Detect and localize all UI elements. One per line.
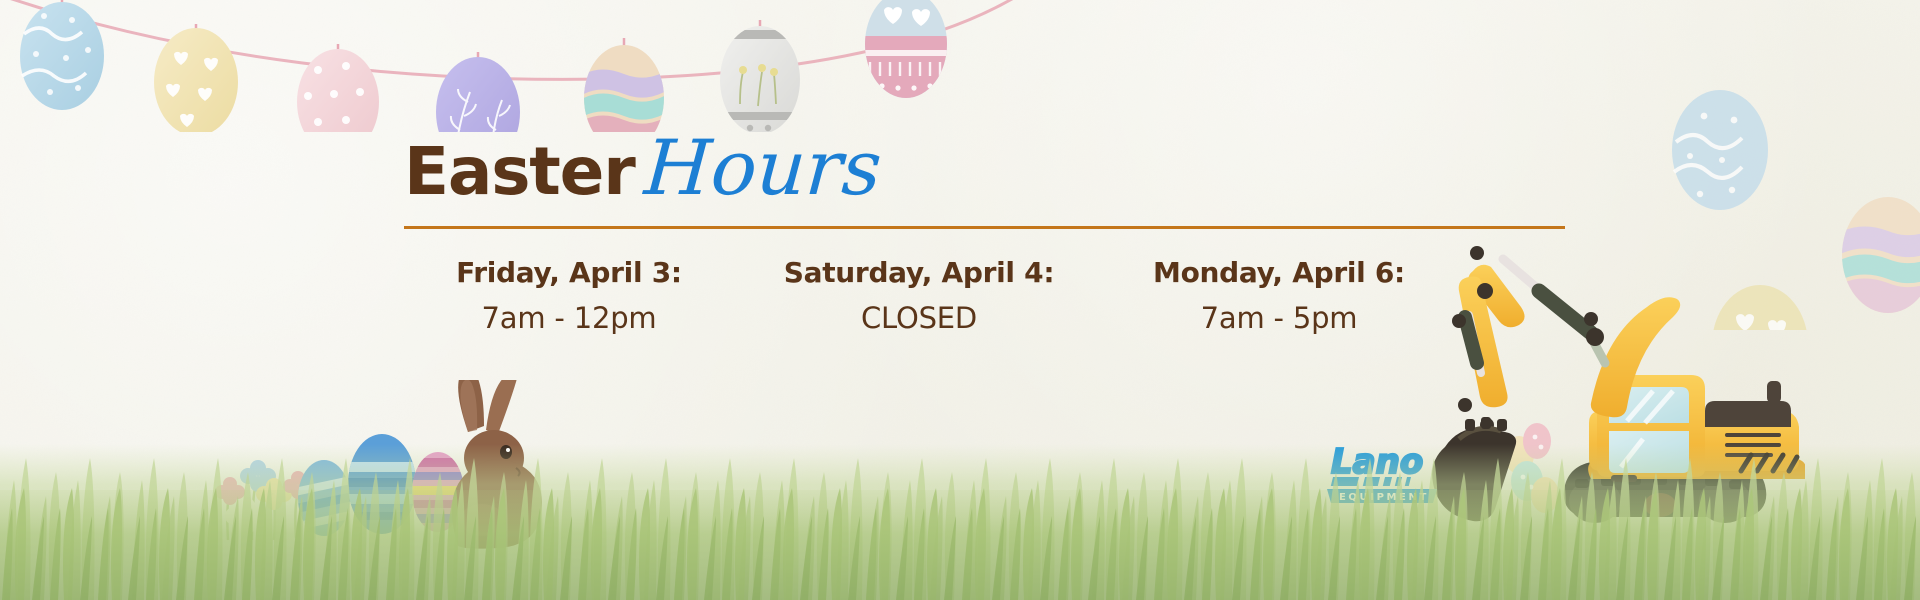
lano-equipment-logo[interactable]: Lano EQUIPMENT <box>1325 437 1445 505</box>
garland-egg-purple-vine <box>436 52 520 132</box>
grass-illustration <box>0 370 1920 600</box>
excavator-cab <box>1597 375 1705 482</box>
bunny-body <box>452 459 542 548</box>
flower-pink <box>215 477 245 505</box>
logo-subtitle-text: EQUIPMENT <box>1339 492 1429 503</box>
hours-time-value: 7am - 12pm <box>404 303 734 335</box>
spring-flowers <box>215 460 313 540</box>
cab-step <box>1611 475 1637 482</box>
ground-egg-blue-stripe-large <box>342 434 422 534</box>
cab-window-upper <box>1609 387 1689 423</box>
hours-column-monday: Monday, April 6: 7am - 5pm <box>1104 258 1454 335</box>
bunny-eye <box>500 445 512 459</box>
hours-day-label: Friday, April 3: <box>404 258 734 289</box>
bunny-ear-right <box>486 380 517 434</box>
bunny-illustration <box>452 380 542 549</box>
flower-pink-small <box>283 471 313 499</box>
easter-hours-banner: Easter Hours Friday, April 3: 7am - 12pm… <box>0 0 1920 600</box>
cab-window-lower <box>1609 431 1689 473</box>
garland-egg-rose-hearts <box>860 0 952 98</box>
flower-yellow <box>256 478 292 510</box>
hours-day-label: Monday, April 6: <box>1104 258 1454 289</box>
logo-speed-bars <box>1331 477 1411 486</box>
title-line: Easter Hours <box>404 130 1569 214</box>
logo-brand-text: Lano <box>1331 442 1423 482</box>
flower-white <box>225 497 267 535</box>
bunny-head <box>464 430 524 486</box>
garland-egg-pink-dots <box>297 44 379 132</box>
garland-string <box>0 0 1020 79</box>
ground-egg-blue-stripe-small <box>291 460 358 536</box>
garland-egg-pastel-wave <box>580 38 668 132</box>
hours-column-friday: Friday, April 3: 7am - 12pm <box>404 258 734 335</box>
floating-egg-blue-dots <box>1672 90 1768 210</box>
hours-day-label: Saturday, April 4: <box>734 258 1104 289</box>
garland-egg-gray-floral <box>716 20 804 132</box>
title-block: Easter Hours <box>404 130 1569 229</box>
flower-blue <box>240 460 276 492</box>
garland-egg-blue-swirl <box>20 0 104 110</box>
hours-row: Friday, April 3: 7am - 12pm Saturday, Ap… <box>404 258 1454 335</box>
floating-egg-cream-hearts <box>1712 285 1808 330</box>
hours-time-value: 7am - 5pm <box>1104 303 1454 335</box>
page-title-primary: Easter <box>404 139 635 205</box>
hours-column-saturday: Saturday, April 4: CLOSED <box>734 258 1104 335</box>
excavator-boom <box>1452 246 1680 432</box>
bunny-and-eggs-scene <box>200 380 580 560</box>
page-title-script: Hours <box>642 130 884 206</box>
excavator-tracks <box>1564 461 1767 523</box>
garland-egg-yellow-hearts <box>154 24 238 132</box>
egg-garland <box>0 0 1020 132</box>
bunny-ear-left <box>458 380 484 432</box>
logo-wordmark-lano: Lano <box>1331 442 1423 482</box>
hours-time-value: CLOSED <box>734 303 1104 335</box>
excavator-body <box>1588 381 1805 479</box>
floating-eggs <box>1620 0 1920 330</box>
ground-egg-pink-purple-stripe <box>408 452 468 532</box>
logo-equipment-banner: EQUIPMENT <box>1327 489 1437 503</box>
title-divider <box>404 226 1565 229</box>
exhaust-stack <box>1767 381 1781 403</box>
bunny-nose <box>516 468 520 476</box>
excavator-easter-eggs <box>1504 423 1559 513</box>
excavator-illustration <box>1415 233 1805 533</box>
floating-egg-pastel-wave <box>1838 197 1920 319</box>
